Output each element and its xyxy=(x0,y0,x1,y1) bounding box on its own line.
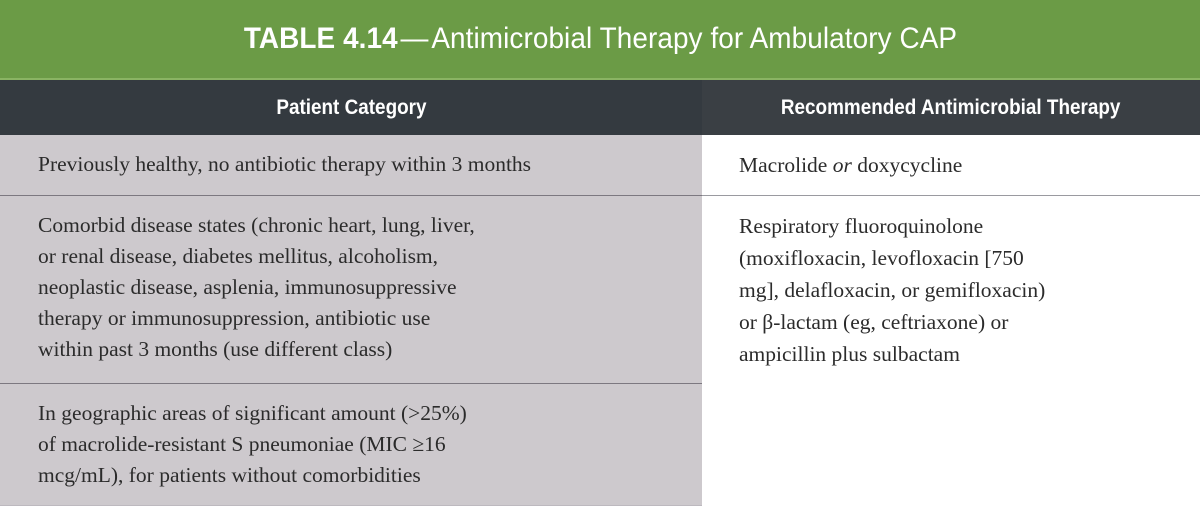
table-title: TABLE 4.14—Antimicrobial Therapy for Amb… xyxy=(243,22,956,56)
table-title-dash: — xyxy=(397,22,431,55)
cell-line: or β-lactam (eg, ceftriaxone) or xyxy=(739,306,1180,338)
column-header-recommended-therapy: Recommended Antimicrobial Therapy xyxy=(702,80,1200,135)
therapy-text-or: or xyxy=(833,153,852,177)
column-header-patient-category: Patient Category xyxy=(0,80,702,135)
cell-line: neoplastic disease, asplenia, immunosupp… xyxy=(38,272,678,303)
table-figure: TABLE 4.14—Antimicrobial Therapy for Amb… xyxy=(0,0,1200,520)
table-title-band: TABLE 4.14—Antimicrobial Therapy for Amb… xyxy=(0,0,1200,80)
table-title-text: Antimicrobial Therapy for Ambulatory CAP xyxy=(431,22,957,55)
table-title-number: TABLE 4.14 xyxy=(243,22,397,55)
cell-recommended-therapy: Respiratory fluoroquinolone (moxifloxaci… xyxy=(702,196,1200,384)
cell-recommended-therapy xyxy=(702,384,1200,506)
table-header-row: Patient Category Recommended Antimicrobi… xyxy=(0,80,1200,135)
cell-patient-category: Previously healthy, no antibiotic therap… xyxy=(0,135,702,196)
column-header-recommended-therapy-label: Recommended Antimicrobial Therapy xyxy=(781,96,1121,120)
table-row: Comorbid disease states (chronic heart, … xyxy=(0,196,1200,384)
therapy-text-tail: doxycycline xyxy=(852,153,962,177)
cell-patient-category: Comorbid disease states (chronic heart, … xyxy=(0,196,702,384)
table-row: Previously healthy, no antibiotic therap… xyxy=(0,135,1200,196)
cell-line: In geographic areas of significant amoun… xyxy=(38,398,678,429)
cell-line: or renal disease, diabetes mellitus, alc… xyxy=(38,241,678,272)
therapy-text-lead: Macrolide xyxy=(739,153,833,177)
cell-line: Comorbid disease states (chronic heart, … xyxy=(38,210,678,241)
cell-line: therapy or immunosuppression, antibiotic… xyxy=(38,303,678,334)
table-row: In geographic areas of significant amoun… xyxy=(0,384,1200,506)
cell-line: within past 3 months (use different clas… xyxy=(38,334,678,365)
column-header-patient-category-label: Patient Category xyxy=(276,96,426,120)
cell-line: ampicillin plus sulbactam xyxy=(739,338,1180,370)
cell-line: mg], delafloxacin, or gemifloxacin) xyxy=(739,274,1180,306)
cell-recommended-therapy: Macrolide or doxycycline xyxy=(702,135,1200,196)
cell-line: of macrolide-resistant S pneumoniae (MIC… xyxy=(38,429,678,460)
cell-line: Respiratory fluoroquinolone xyxy=(739,210,1180,242)
cell-patient-category: In geographic areas of significant amoun… xyxy=(0,384,702,506)
cell-line: (moxifloxacin, levofloxacin [750 xyxy=(739,242,1180,274)
cell-line: mcg/mL), for patients without comorbidit… xyxy=(38,460,678,491)
